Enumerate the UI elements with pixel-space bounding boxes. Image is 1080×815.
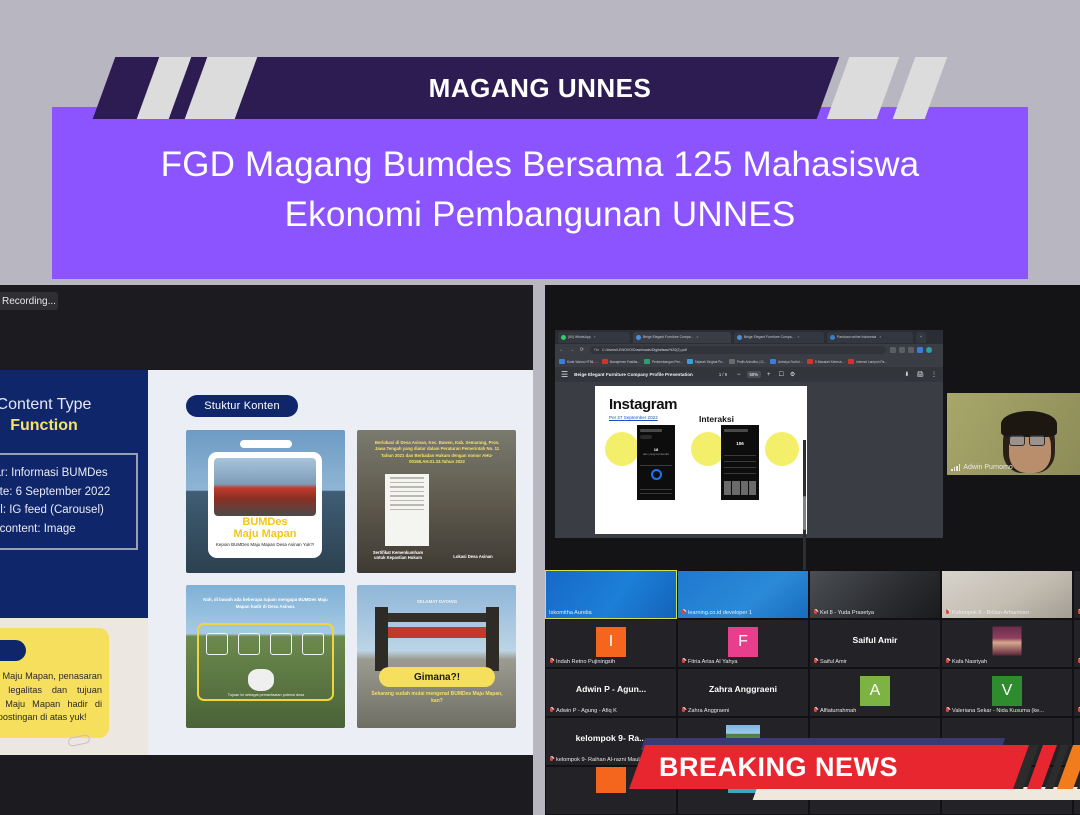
browser-tab-3[interactable]: Panduan online Indonesia ×: [827, 332, 913, 343]
avatar: I: [596, 627, 626, 657]
recording-indicator: Recording...: [0, 292, 58, 310]
breaking-news-text: BREAKING NEWS: [659, 745, 1019, 789]
share-icon[interactable]: [899, 347, 905, 353]
mic-muted-icon: [549, 658, 554, 665]
screen-share-panel[interactable]: (50) WhatsApp × Beige Elegant Furniture …: [545, 285, 1080, 570]
meta-line-subpillar: Subpillar: Informasi BUMDes: [0, 464, 128, 483]
url-text: C:/Users/LENOVO/Downloads/Digitalisasi%2…: [602, 348, 687, 352]
pdf-filename: Beige Elegant Furniture Company Profile …: [574, 372, 693, 377]
bookmark-0[interactable]: Kode Warna HTML ...: [559, 359, 598, 364]
slide-stage: Content Type Function Subpillar: Informa…: [0, 370, 533, 755]
mic-muted-icon: [813, 707, 818, 714]
bookmarks-bar[interactable]: Kode Warna HTML ... Manajemen Fasilita..…: [555, 356, 943, 367]
participant-tile[interactable]: Muhammad Zaki Muhammad Zaki: [1073, 619, 1080, 668]
caption-badge: Caption: [0, 640, 26, 661]
canva-favicon-icon: [737, 335, 742, 340]
banner-headline: FGD Magang Bumdes Bersama 125 Mahasiswa …: [92, 140, 988, 239]
yellow-circle-2: [691, 432, 725, 466]
breaking-news-overlay: BREAKING NEWS: [637, 738, 1080, 800]
meta-line-channel: Channel: IG feed (Carousel): [0, 501, 128, 520]
bookmark-5[interactable]: Anindya Scribd ...: [770, 359, 803, 364]
participant-tile[interactable]: Iskomitha Aurelia: [545, 570, 677, 619]
desa-asinan-logo-icon: [240, 440, 292, 448]
browser-tab-1[interactable]: Beige Elegant Furniture Compa... ×: [633, 332, 731, 343]
participant-tile[interactable]: A Alfiaturrahmah: [809, 668, 941, 717]
gate-post-left: [375, 607, 388, 671]
cover-card: BUMDes Maju Mapan Kepoin BUMDes Maju Map…: [208, 452, 322, 558]
gimana-pill: Gimana?!: [379, 667, 495, 687]
participant-row-3: Adwin P - Agun... Adwin P - Agung - Afiq…: [545, 668, 1080, 717]
cover-title-line1: BUMDes: [208, 516, 322, 528]
legalitas-caption-right: Lokasi Desa Asinan: [443, 554, 503, 559]
zoom-in-button[interactable]: +: [767, 372, 771, 378]
close-icon[interactable]: ×: [879, 335, 881, 339]
banner-label: MAGANG UNNES: [0, 57, 1080, 119]
bookmark-2[interactable]: Perkembangan Pen...: [644, 359, 683, 364]
participant-name: learning.co.id developer 1: [681, 609, 752, 616]
thumbnail-grid: BUMDes Maju Mapan Kepoin BUMDes Maju Map…: [186, 430, 516, 740]
tujuan-heading: Nah, di bawah ada beberapa tujuan mengap…: [196, 597, 335, 611]
zoom-level[interactable]: 50%: [747, 371, 761, 378]
mic-muted-icon: [549, 756, 554, 763]
mic-muted-icon: [945, 707, 950, 714]
pdf-page-content: Instagram Per 27 September 2022 Interaks…: [595, 386, 807, 534]
slide-right-column: Stuktur Konten BUMDes Maju Mapan Ke: [148, 370, 533, 755]
participant-tile[interactable]: Rizky Awati Z Rizky Awati Z: [1073, 570, 1080, 619]
content-type-label: Content Type: [0, 396, 148, 414]
star-icon[interactable]: [908, 347, 914, 353]
participant-name: Iskomitha Aurelia: [549, 610, 592, 616]
meeting-area: Recording... Content Type Function Subpi…: [0, 285, 1080, 815]
more-vertical-icon[interactable]: ⋮: [931, 371, 937, 378]
participant-tile[interactable]: Saiful Amir Saiful Amir: [809, 619, 941, 668]
tab-label: Beige Elegant Furniture Compa...: [643, 335, 693, 339]
legalitas-caption-left: Sertifikat Kemenkumham untuk Kepastian H…: [367, 550, 429, 561]
tujuan-footer: Tujuan ini sebagai pemanfaatan potensi d…: [200, 693, 332, 697]
pemberdayaan-icon: [238, 633, 260, 655]
mic-muted-icon: [681, 658, 686, 665]
page-indicator: 1 / 9: [719, 372, 727, 377]
pdf-viewer-toolbar[interactable]: ☰ Beige Elegant Furniture Company Profil…: [555, 367, 943, 382]
gate-beam: [375, 613, 499, 622]
slide-left-column: Content Type Function Subpillar: Informa…: [0, 370, 148, 755]
pembangunan-icon: [302, 633, 324, 655]
avatar: A: [860, 676, 890, 706]
mengelola-usaha-icon: [206, 633, 228, 655]
avatar: F: [728, 627, 758, 657]
meta-line-brief-date: Brief date: 6 September 2022: [0, 483, 128, 502]
caption-text: Halo sobat BUMDes Maju Mapan, penasaran …: [0, 670, 102, 725]
toolbar-icons[interactable]: [890, 347, 939, 353]
panel-bottom-letterbox: [0, 755, 533, 815]
camera-tile-adwin[interactable]: Adwin Purnomo: [947, 393, 1080, 475]
cover-photo: [214, 458, 316, 516]
gear-icon[interactable]: ⚙: [790, 371, 795, 378]
slide-title: Instagram: [609, 396, 677, 413]
participant-tile[interactable]: V Valeriana Sekar - Nida Kusuma (ke...: [941, 668, 1073, 717]
bookmark-7[interactable]: Internet Lampuh Pa...: [848, 359, 887, 364]
participant-name: Zahra Anggraeni: [681, 707, 729, 714]
tab-label: Panduan online Indonesia: [837, 335, 876, 339]
mic-muted-icon: [945, 609, 950, 616]
meta-line-format: Format content: Image: [0, 520, 128, 539]
phone-screenshot-audience: 106: [721, 425, 759, 500]
tab-label: (50) WhatsApp: [568, 335, 591, 339]
pdf-toolbar-right[interactable]: ⬇ 🖨 ⋮: [904, 371, 937, 378]
participant-name: Saiful Amir: [813, 658, 847, 665]
investasi-icon: [270, 633, 292, 655]
gate-banner-strip: [379, 627, 495, 638]
presentation-slide: Content Type Function Subpillar: Informa…: [0, 370, 533, 755]
eyeglasses-icon: [1009, 435, 1049, 446]
participant-name: Alfiaturrahmah: [813, 707, 856, 714]
gate-post-right: [486, 607, 499, 671]
browser-tab-strip[interactable]: (50) WhatsApp × Beige Elegant Furniture …: [555, 330, 943, 344]
mic-muted-icon: [681, 707, 686, 714]
yellow-circle-1: [605, 432, 639, 466]
tab-label: Beige Elegant Furniture Compa...: [744, 335, 794, 339]
slide-section-label: Interaksi: [699, 414, 734, 424]
mic-muted-icon: [681, 609, 686, 616]
participant-name: Indah Retno Pujiningsih: [549, 658, 615, 665]
phone-screenshot-engagement: 18akun yang berinteraksi: [637, 425, 675, 500]
canva-favicon-icon: [636, 335, 641, 340]
camera-tile-name: Adwin Purnomo: [951, 464, 1013, 471]
more-vertical-icon[interactable]: [935, 347, 939, 353]
participant-name: Kafa Nasriyah: [945, 658, 987, 665]
participant-tile[interactable]: W Wiwid Fitriyani: [1073, 668, 1080, 717]
address-bar[interactable]: File C:/Users/LENOVO/Downloads/Digitalis…: [590, 346, 886, 354]
doc-favicon-icon: [830, 335, 835, 340]
whatsapp-favicon-icon: [561, 335, 566, 340]
participant-name: kelompok 9- Raihan Al-razni Maul...: [549, 756, 644, 763]
browser-tab-2[interactable]: Beige Elegant Furniture Compa... ×: [734, 332, 824, 343]
struktur-konten-badge: Stuktur Konten: [186, 395, 298, 417]
print-icon[interactable]: 🖨: [916, 371, 924, 378]
nav-buttons[interactable]: ← → ⟳: [559, 347, 586, 353]
browser-window[interactable]: (50) WhatsApp × Beige Elegant Furniture …: [555, 330, 943, 538]
cover-title-line2: Maju Mapan: [208, 528, 322, 540]
participant-name: Kelompok 8 - Brilian Arbantoso: [945, 609, 1029, 616]
livestock-icon: [248, 669, 274, 691]
participant-tile[interactable]: Adwin P - Agun... Adwin P - Agung - Afiq…: [545, 668, 677, 717]
participant-tile[interactable]: F Fitria Arisa Al Yahya: [677, 619, 809, 668]
bookmark-4[interactable]: Profik Anindika | Cl...: [729, 359, 766, 364]
panel-top-letterbox: Recording...: [0, 285, 533, 370]
signal-bars-icon: [951, 464, 960, 471]
slide-date: Per 27 September 2022: [609, 415, 658, 420]
close-icon[interactable]: ×: [594, 335, 596, 339]
mic-muted-icon: [813, 658, 818, 665]
caption-card: Caption Halo sobat BUMDes Maju Mapan, pe…: [0, 628, 109, 738]
participant-row-2: I Indah Retno Pujiningsih F Fitria Arisa…: [545, 619, 1080, 668]
bookmark-6[interactable]: 5 Masalah Keterse...: [807, 359, 844, 364]
gate-welcome-text: SELAMAT DATANG: [373, 599, 501, 604]
yellow-circle-3: [765, 432, 799, 466]
pdf-scrollbar[interactable]: [803, 440, 806, 570]
thumbnail-legalitas: Berlokasi di Desa Asinan, Kec. Bawen, Ka…: [357, 430, 516, 573]
browser-toolbar[interactable]: ← → ⟳ File C:/Users/LENOVO/Downloads/Dig…: [555, 344, 943, 356]
shared-slide-panel[interactable]: Recording... Content Type Function Subpi…: [0, 285, 533, 815]
browser-tab-0[interactable]: (50) WhatsApp ×: [558, 332, 630, 343]
zoom-out-button[interactable]: −: [737, 372, 741, 378]
bookmark-1[interactable]: Manajemen Fasilita...: [602, 359, 640, 364]
thumbnail-bumdes-cover: BUMDes Maju Mapan Kepoin BUMDes Maju Map…: [186, 430, 345, 573]
close-icon[interactable]: ×: [696, 335, 698, 339]
gimana-subtext: Sekarang sudah mulai mengenal BUMDes Maj…: [367, 691, 507, 706]
screenshot-root: MAGANG UNNES FGD Magang Bumdes Bersama 1…: [0, 0, 1080, 815]
participant-tile[interactable]: learning.co.id developer 1: [677, 570, 809, 619]
participant-tile[interactable]: Kafa Nasriyah: [941, 619, 1073, 668]
participant-tile[interactable]: Kel 8 - Yuda Prasetya: [809, 570, 941, 619]
legalitas-paragraph: Berlokasi di Desa Asinan, Kec. Bawen, Ka…: [373, 440, 501, 466]
title-banner: MAGANG UNNES FGD Magang Bumdes Bersama 1…: [0, 0, 1080, 285]
participant-name: Adwin P - Agung - Afiq K: [549, 707, 617, 714]
fit-page-icon[interactable]: ☐: [778, 371, 783, 378]
mic-muted-icon: [549, 707, 554, 714]
thumbnail-tujuan: Nah, di bawah ada beberapa tujuan mengap…: [186, 585, 345, 728]
thumbnail-row-2: Nah, di bawah ada beberapa tujuan mengap…: [186, 585, 516, 728]
participant-tile[interactable]: Kelompok 8 - Brilian Arbantoso: [941, 570, 1073, 619]
village-gate-graphic: SELAMAT DATANG: [373, 607, 501, 671]
participant-name: Kel 8 - Yuda Prasetya: [813, 609, 874, 616]
sidebar-toggle-icon[interactable]: ☰: [561, 370, 568, 379]
mic-muted-icon: [945, 658, 950, 665]
bookmark-3[interactable]: Sejarah Singkat Pe...: [687, 359, 725, 364]
participant-name: Valeriana Sekar - Nida Kusuma (ke...: [945, 707, 1044, 714]
participant-hair: [1001, 411, 1057, 437]
participant-name: Fitria Arisa Al Yahya: [681, 658, 738, 665]
panel-divider: [533, 285, 545, 815]
thumbnail-gimana: SELAMAT DATANG Gimana?! Sekarang sudah m…: [357, 585, 516, 728]
participant-tile[interactable]: I Indah Retno Pujiningsih: [545, 619, 677, 668]
mic-muted-icon: [813, 609, 818, 616]
thumbnail-row-1: BUMDes Maju Mapan Kepoin BUMDes Maju Map…: [186, 430, 516, 573]
avatar: V: [992, 676, 1022, 706]
search-icon[interactable]: [890, 347, 896, 353]
extension-icon[interactable]: [917, 347, 923, 353]
avatar[interactable]: [926, 347, 932, 353]
cover-subtitle: Kepoin BUMDes Maju Mapan Desa Asinan Yuk…: [212, 542, 318, 548]
caption-area: Caption Halo sobat BUMDes Maju Mapan, pe…: [0, 618, 148, 755]
participant-tile[interactable]: Zahra Anggraeni Zahra Anggraeni: [677, 668, 809, 717]
donut-chart-icon: [651, 469, 662, 480]
avatar: [993, 626, 1022, 655]
participant-row-1: Iskomitha Aurelia learning.co.id develop…: [545, 570, 1080, 619]
download-icon[interactable]: ⬇: [904, 371, 909, 378]
new-tab-button[interactable]: +: [916, 332, 926, 343]
slide-meta-box: Subpillar: Informasi BUMDes Brief date: …: [0, 453, 138, 550]
certificate-document: [385, 474, 429, 546]
content-type-value: Function: [0, 417, 148, 435]
close-icon[interactable]: ×: [797, 335, 799, 339]
file-scheme-label: File: [594, 348, 599, 352]
